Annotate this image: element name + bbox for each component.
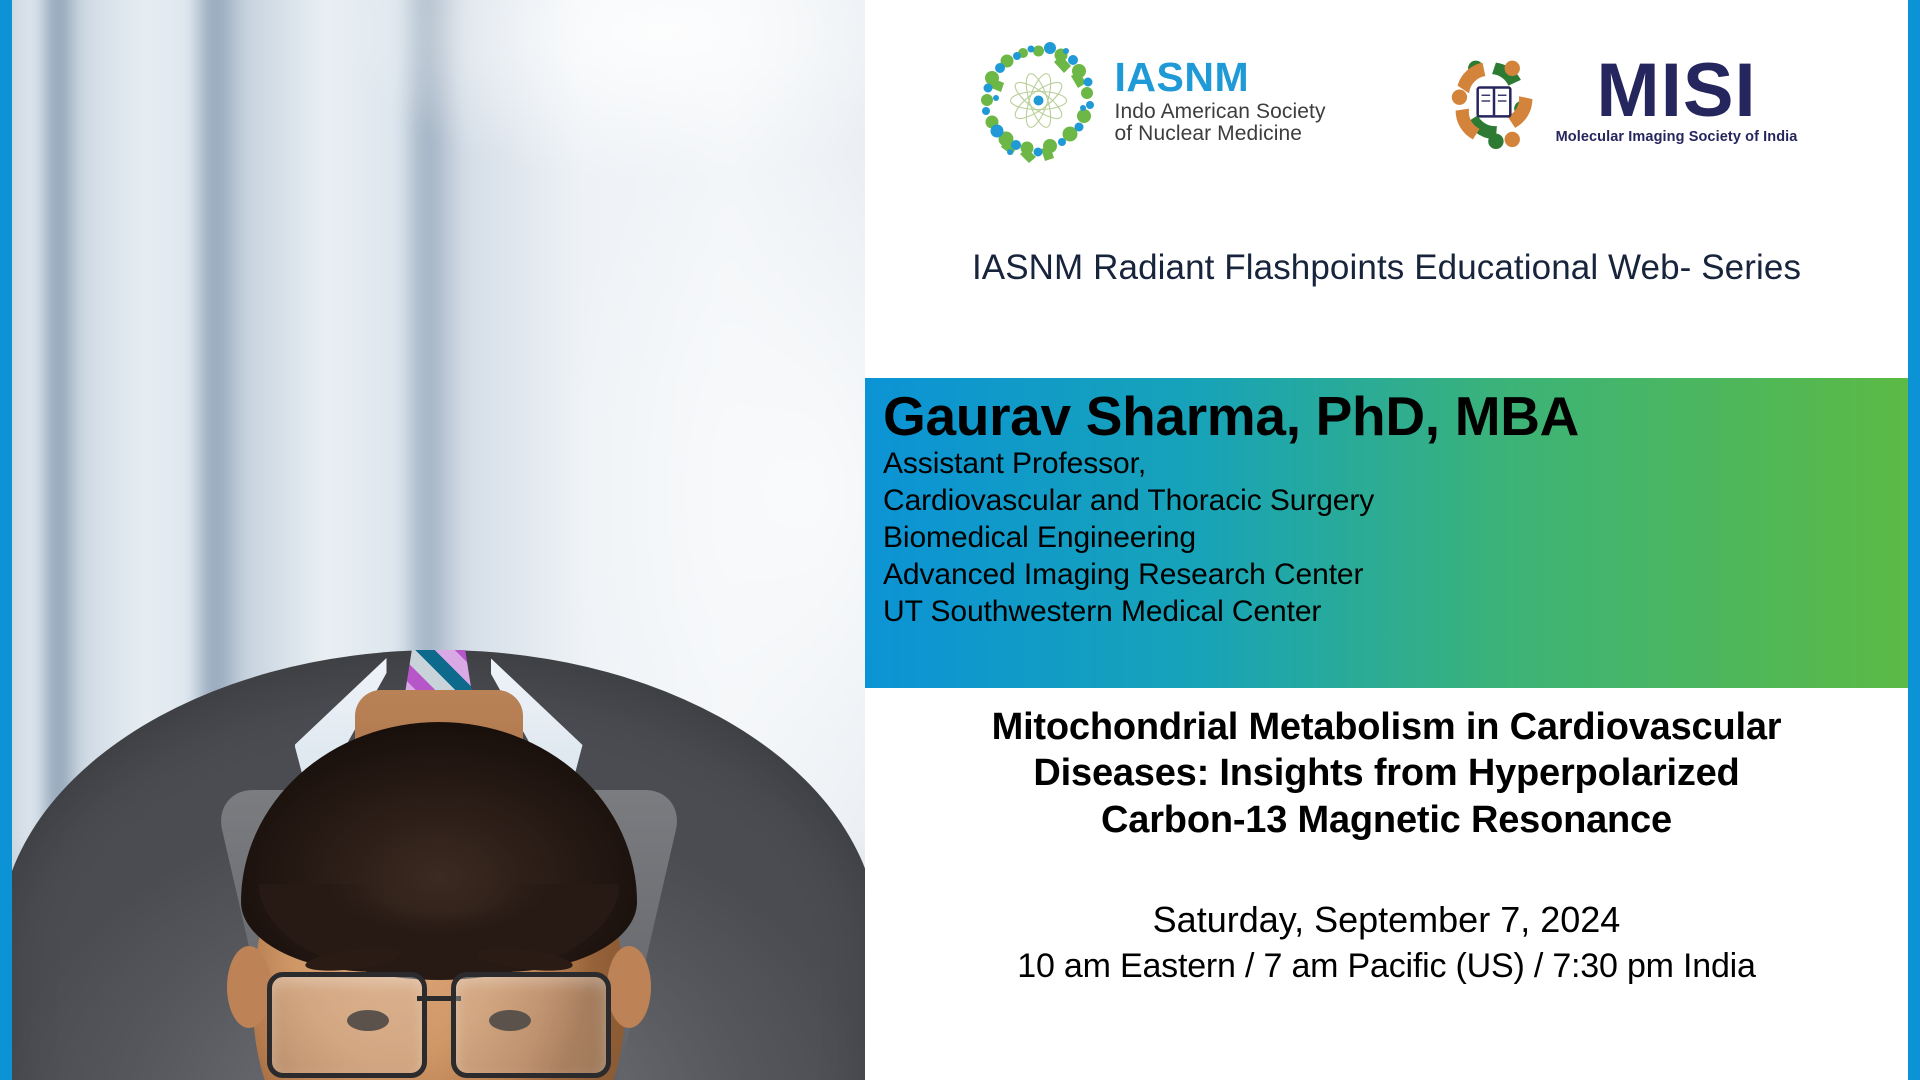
misi-tagline: Molecular Imaging Society of India bbox=[1556, 129, 1798, 145]
speaker-photo bbox=[12, 0, 865, 1080]
affiliation-line: Biomedical Engineering bbox=[883, 520, 1908, 557]
talk-title-line2: Diseases: Insights from Hyperpolarized bbox=[883, 750, 1890, 796]
speaker-name: Gaurav Sharma, PhD, MBA bbox=[883, 388, 1908, 444]
misi-logo: MISI Molecular Imaging Society of India bbox=[1446, 53, 1798, 149]
misi-wordmark: MISI Molecular Imaging Society of India bbox=[1556, 56, 1798, 146]
webinar-announcement-poster: IASNM Indo American Society of Nuclear M… bbox=[0, 0, 1920, 1080]
lens-left bbox=[267, 972, 427, 1078]
ear-left bbox=[227, 946, 271, 1028]
affiliation-line: UT Southwestern Medical Center bbox=[883, 594, 1908, 631]
talk-title-line1: Mitochondrial Metabolism in Cardiovascul… bbox=[883, 704, 1890, 750]
iasnm-fullname-line2: of Nuclear Medicine bbox=[1115, 123, 1326, 145]
people-book-icon bbox=[1446, 53, 1542, 149]
talk-title: Mitochondrial Metabolism in Cardiovascul… bbox=[883, 704, 1890, 843]
affiliation-line: Assistant Professor, bbox=[883, 446, 1908, 483]
iasnm-fullname: Indo American Society of Nuclear Medicin… bbox=[1115, 101, 1326, 145]
iasnm-logo: IASNM Indo American Society of Nuclear M… bbox=[976, 38, 1326, 163]
right-accent-strip bbox=[1908, 0, 1920, 1080]
series-heading: IASNM Radiant Flashpoints Educational We… bbox=[865, 248, 1908, 288]
iasnm-wordmark: IASNM Indo American Society of Nuclear M… bbox=[1115, 56, 1326, 145]
event-schedule: Saturday, September 7, 2024 10 am Easter… bbox=[875, 898, 1898, 987]
affiliation-line: Advanced Imaging Research Center bbox=[883, 557, 1908, 594]
event-date: Saturday, September 7, 2024 bbox=[875, 898, 1898, 943]
content-column: IASNM Indo American Society of Nuclear M… bbox=[865, 0, 1908, 1080]
lens-right bbox=[451, 972, 611, 1078]
atom-ring-icon bbox=[976, 38, 1101, 163]
talk-title-line3: Carbon-13 Magnetic Resonance bbox=[883, 797, 1890, 843]
iasnm-acronym: IASNM bbox=[1115, 56, 1326, 99]
logo-row: IASNM Indo American Society of Nuclear M… bbox=[865, 28, 1908, 173]
ear-right bbox=[607, 946, 651, 1028]
affiliation-line: Cardiovascular and Thoracic Surgery bbox=[883, 483, 1908, 520]
left-accent-strip bbox=[0, 0, 12, 1080]
misi-acronym: MISI bbox=[1596, 56, 1756, 126]
iasnm-fullname-line1: Indo American Society bbox=[1115, 101, 1326, 123]
speaker-affiliations: Assistant Professor, Cardiovascular and … bbox=[883, 446, 1908, 630]
speaker-banner: Gaurav Sharma, PhD, MBA Assistant Profes… bbox=[865, 378, 1908, 688]
event-time: 10 am Eastern / 7 am Pacific (US) / 7:30… bbox=[875, 945, 1898, 988]
